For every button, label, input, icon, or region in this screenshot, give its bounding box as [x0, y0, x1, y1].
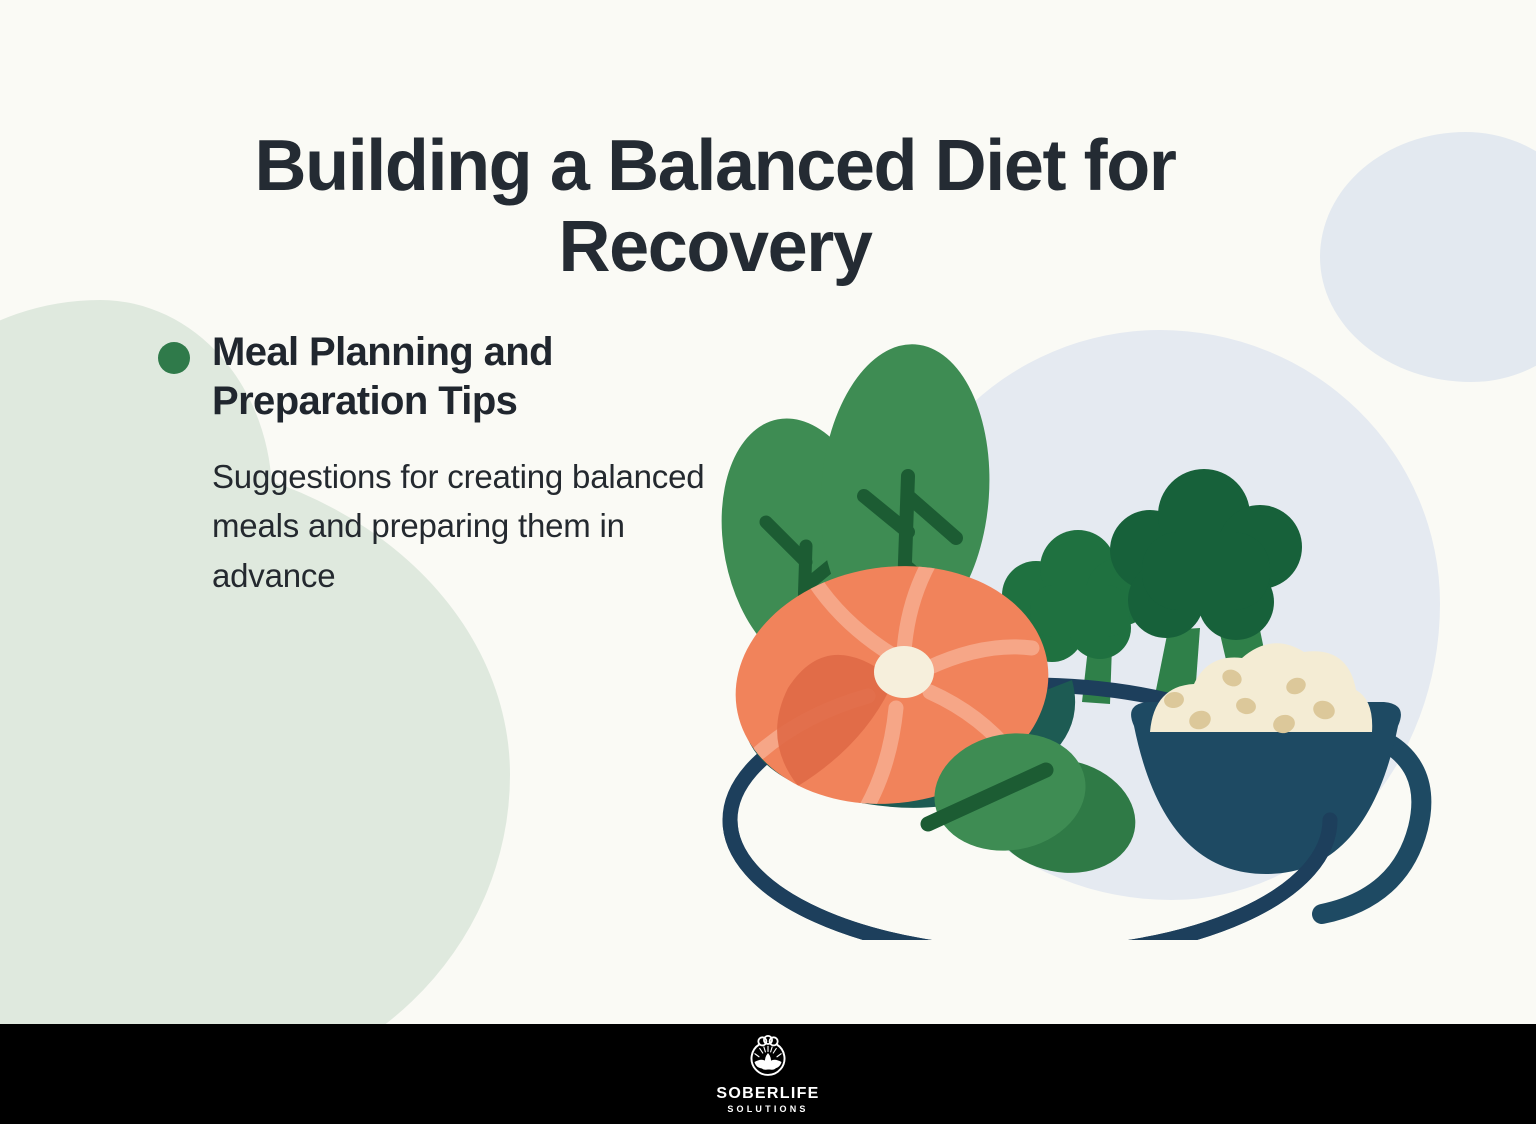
logo-name-text: SOBERLIFE [716, 1086, 819, 1102]
meal-plate-icon [680, 300, 1440, 940]
logo-subtitle-text: SOLUTIONS [727, 1105, 808, 1114]
lotus-emblem-icon [744, 1035, 792, 1083]
slide-canvas: Building a Balanced Diet for Recovery Me… [0, 0, 1536, 1124]
bullet-body-text: Suggestions for creating balanced meals … [212, 452, 752, 601]
slide-title: Building a Balanced Diet for Recovery [150, 126, 1280, 287]
bullet-dot-icon [158, 342, 190, 374]
balanced-meal-illustration [680, 300, 1440, 940]
footer-bar: SOBERLIFE SOLUTIONS [0, 1024, 1536, 1124]
bullet-item: Meal Planning and Preparation Tips [158, 328, 758, 426]
bullet-heading: Meal Planning and Preparation Tips [212, 328, 758, 426]
soberlife-logo: SOBERLIFE SOLUTIONS [716, 1035, 819, 1114]
content-column: Meal Planning and Preparation Tips Sugge… [158, 328, 758, 600]
